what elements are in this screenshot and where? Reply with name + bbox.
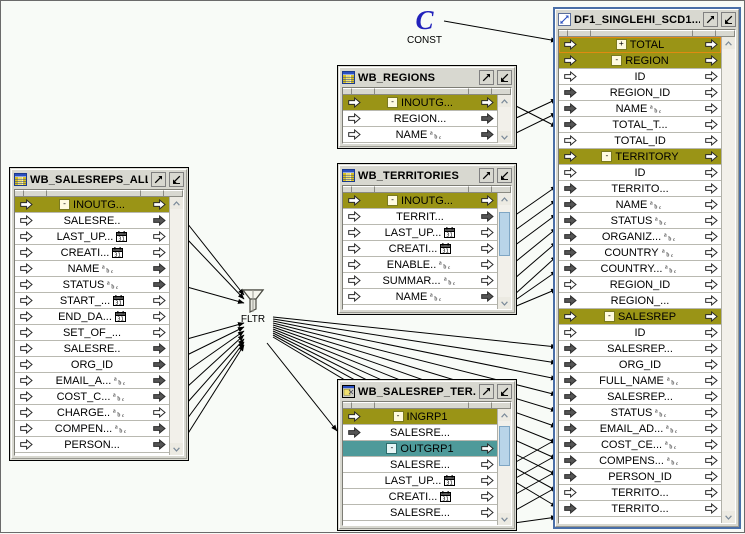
row-input-port[interactable] xyxy=(559,55,581,66)
panel-df1_singlehi_scd1[interactable]: DF1_SINGLEHI_SCD1... xyxy=(553,7,741,529)
row-input-port[interactable] xyxy=(15,215,37,226)
arrow-filled-icon[interactable] xyxy=(564,359,577,370)
row-input-port[interactable] xyxy=(559,103,581,114)
scroll-down-arrow[interactable] xyxy=(498,131,511,143)
row-output-port[interactable] xyxy=(149,247,169,258)
arrow-hollow-icon[interactable] xyxy=(20,423,33,434)
arrow-hollow-icon[interactable] xyxy=(20,247,33,258)
scroll-down-arrow[interactable] xyxy=(498,297,511,309)
scrollbar-thumb[interactable] xyxy=(499,212,510,255)
row-output-port[interactable] xyxy=(477,97,497,108)
row-output-port[interactable] xyxy=(149,263,169,274)
arrow-hollow-icon[interactable] xyxy=(153,327,166,338)
row-input-port[interactable] xyxy=(559,311,581,322)
arrow-hollow-icon[interactable] xyxy=(705,391,718,402)
arrow-filled-icon[interactable] xyxy=(564,215,577,226)
table-row[interactable]: SALESRE... xyxy=(343,505,497,521)
arrow-filled-icon[interactable] xyxy=(564,471,577,482)
arrow-hollow-icon[interactable] xyxy=(481,459,494,470)
table-row[interactable]: -OUTGRP1 xyxy=(343,441,497,457)
column-header-cell[interactable] xyxy=(343,88,352,95)
row-output-port[interactable] xyxy=(477,291,497,302)
scrollbar-thumb[interactable] xyxy=(499,426,510,467)
arrow-filled-icon[interactable] xyxy=(153,375,166,386)
table-row[interactable]: STATUS a b c xyxy=(559,213,721,229)
expand-button[interactable] xyxy=(479,384,494,399)
row-output-port[interactable] xyxy=(477,491,497,502)
row-output-port[interactable] xyxy=(477,211,497,222)
table-row[interactable]: COST_CE... a b c xyxy=(559,437,721,453)
row-input-port[interactable] xyxy=(559,295,581,306)
row-output-port[interactable] xyxy=(149,375,169,386)
panel-titlebar[interactable]: WB_SALESREPS_ALL xyxy=(12,170,186,189)
table-row[interactable]: SALESRE... xyxy=(343,425,497,441)
row-input-port[interactable] xyxy=(559,279,581,290)
row-output-port[interactable] xyxy=(149,215,169,226)
arrow-hollow-icon[interactable] xyxy=(705,71,718,82)
arrow-hollow-icon[interactable] xyxy=(705,247,718,258)
scroll-up-arrow[interactable] xyxy=(722,37,735,49)
row-input-port[interactable] xyxy=(559,391,581,402)
row-output-port[interactable] xyxy=(701,199,721,210)
row-input-port[interactable] xyxy=(343,259,365,270)
arrow-hollow-icon[interactable] xyxy=(481,243,494,254)
table-row[interactable]: CREATI... 31 xyxy=(343,489,497,505)
column-header-cell[interactable] xyxy=(375,186,469,193)
row-input-port[interactable] xyxy=(559,487,581,498)
row-input-port[interactable] xyxy=(559,87,581,98)
arrow-hollow-icon[interactable] xyxy=(20,263,33,274)
arrow-hollow-icon[interactable] xyxy=(348,291,361,302)
arrow-hollow-icon[interactable] xyxy=(20,343,33,354)
row-input-port[interactable] xyxy=(15,263,37,274)
row-output-port[interactable] xyxy=(477,475,497,486)
table-row[interactable]: COUNTRY a b c xyxy=(559,245,721,261)
panel-wb_salesreps_all[interactable]: WB_SALESREPS_ALL xyxy=(9,167,189,461)
row-output-port[interactable] xyxy=(701,263,721,274)
table-row[interactable]: REGION... xyxy=(343,111,497,127)
row-output-port[interactable] xyxy=(701,119,721,130)
arrow-filled-icon[interactable] xyxy=(564,183,577,194)
table-row[interactable]: SALESRE.. xyxy=(15,341,169,357)
panel-grid[interactable]: -INGRP1 SALESRE... -OUTGRP1 SALESRE... xyxy=(342,401,512,526)
column-header-cell[interactable] xyxy=(15,190,24,197)
collapse-button[interactable] xyxy=(169,172,184,187)
arrow-hollow-icon[interactable] xyxy=(20,295,33,306)
table-row[interactable]: COMPEN... a b c xyxy=(15,421,169,437)
collapse-button[interactable] xyxy=(721,12,736,27)
arrow-filled-icon[interactable] xyxy=(481,211,494,222)
row-input-port[interactable] xyxy=(15,439,37,450)
arrow-hollow-icon[interactable] xyxy=(705,455,718,466)
arrow-hollow-icon[interactable] xyxy=(705,439,718,450)
arrow-hollow-icon[interactable] xyxy=(705,135,718,146)
row-input-port[interactable] xyxy=(559,151,581,162)
table-row[interactable]: NAME a b c xyxy=(343,289,497,305)
arrow-filled-icon[interactable] xyxy=(153,279,166,290)
row-expander[interactable]: - xyxy=(601,151,612,162)
row-output-port[interactable] xyxy=(149,199,169,210)
row-input-port[interactable] xyxy=(343,291,365,302)
table-row[interactable]: CREATI... 31 xyxy=(15,245,169,261)
arrow-filled-icon[interactable] xyxy=(481,291,494,302)
row-expander[interactable]: - xyxy=(386,443,397,454)
table-row[interactable]: COST_C... a b c xyxy=(15,389,169,405)
arrow-hollow-icon[interactable] xyxy=(20,359,33,370)
arrow-filled-icon[interactable] xyxy=(153,359,166,370)
filter-node[interactable]: FLTR xyxy=(239,287,267,325)
vertical-scrollbar[interactable] xyxy=(497,409,511,525)
arrow-hollow-icon[interactable] xyxy=(705,263,718,274)
arrow-hollow-icon[interactable] xyxy=(20,439,33,450)
row-input-port[interactable] xyxy=(343,227,365,238)
table-row[interactable]: -INGRP1 xyxy=(343,409,497,425)
expand-button[interactable] xyxy=(479,168,494,183)
scrollbar-track[interactable] xyxy=(722,49,735,511)
arrow-hollow-icon[interactable] xyxy=(564,279,577,290)
row-input-port[interactable] xyxy=(559,71,581,82)
table-row[interactable]: NAME a b c xyxy=(15,261,169,277)
arrow-hollow-icon[interactable] xyxy=(153,247,166,258)
panel-wb_salesrep_ter[interactable]: WB_SALESREP_TER.. xyxy=(337,379,517,531)
table-row[interactable]: SALESREP... xyxy=(559,341,721,357)
arrow-hollow-icon[interactable] xyxy=(564,311,577,322)
arrow-hollow-icon[interactable] xyxy=(705,279,718,290)
column-header-strip[interactable] xyxy=(15,190,183,197)
arrow-hollow-icon[interactable] xyxy=(705,199,718,210)
arrow-hollow-icon[interactable] xyxy=(705,311,718,322)
arrow-filled-icon[interactable] xyxy=(564,263,577,274)
row-input-port[interactable] xyxy=(559,439,581,450)
arrow-hollow-icon[interactable] xyxy=(705,103,718,114)
row-input-port[interactable] xyxy=(15,295,37,306)
table-row[interactable]: CREATI... 31 xyxy=(343,241,497,257)
row-output-port[interactable] xyxy=(149,327,169,338)
arrow-filled-icon[interactable] xyxy=(348,427,361,438)
table-row[interactable]: SALESRE.. xyxy=(15,213,169,229)
row-output-port[interactable] xyxy=(701,39,721,50)
table-row[interactable]: -REGION xyxy=(559,53,721,69)
row-input-port[interactable] xyxy=(343,243,365,254)
table-row[interactable]: -SALESREP xyxy=(559,309,721,325)
column-header-strip[interactable] xyxy=(343,88,511,95)
table-row[interactable]: LAST_UP... 31 xyxy=(343,473,497,489)
row-output-port[interactable] xyxy=(701,455,721,466)
row-expander[interactable]: - xyxy=(387,195,398,206)
row-input-port[interactable] xyxy=(343,195,365,206)
arrow-filled-icon[interactable] xyxy=(564,455,577,466)
row-input-port[interactable] xyxy=(559,359,581,370)
column-header-cell[interactable] xyxy=(568,30,591,37)
arrow-hollow-icon[interactable] xyxy=(705,503,718,514)
row-output-port[interactable] xyxy=(477,113,497,124)
expand-button[interactable] xyxy=(703,12,718,27)
table-row[interactable]: +TOTAL xyxy=(559,37,721,53)
row-input-port[interactable] xyxy=(15,343,37,354)
vertical-scrollbar[interactable] xyxy=(169,197,183,455)
panel-titlebar[interactable]: WB_SALESREP_TER.. xyxy=(340,382,514,401)
row-output-port[interactable] xyxy=(477,507,497,518)
table-row[interactable]: NAME a b c xyxy=(559,197,721,213)
column-header-cell[interactable] xyxy=(375,402,469,409)
arrow-hollow-icon[interactable] xyxy=(481,195,494,206)
column-header-cell[interactable] xyxy=(469,88,492,95)
row-output-port[interactable] xyxy=(701,231,721,242)
arrow-filled-icon[interactable] xyxy=(153,423,166,434)
arrow-hollow-icon[interactable] xyxy=(705,231,718,242)
row-output-port[interactable] xyxy=(701,295,721,306)
arrow-hollow-icon[interactable] xyxy=(481,259,494,270)
row-input-port[interactable] xyxy=(15,311,37,322)
row-input-port[interactable] xyxy=(343,275,365,286)
row-output-port[interactable] xyxy=(701,327,721,338)
row-input-port[interactable] xyxy=(559,263,581,274)
scroll-up-arrow[interactable] xyxy=(498,193,511,205)
row-output-port[interactable] xyxy=(701,487,721,498)
row-output-port[interactable] xyxy=(701,135,721,146)
row-output-port[interactable] xyxy=(701,55,721,66)
row-output-port[interactable] xyxy=(149,295,169,306)
arrow-hollow-icon[interactable] xyxy=(348,275,361,286)
column-header-cell[interactable] xyxy=(469,402,492,409)
column-header-cell[interactable] xyxy=(716,30,735,37)
arrow-hollow-icon[interactable] xyxy=(705,39,718,50)
collapse-button[interactable] xyxy=(497,384,512,399)
table-row[interactable]: PERSON_ID xyxy=(559,469,721,485)
column-header-cell[interactable] xyxy=(47,190,141,197)
table-row[interactable]: LAST_UP... 31 xyxy=(343,225,497,241)
row-output-port[interactable] xyxy=(477,129,497,140)
table-row[interactable]: CHARGE.. a b c xyxy=(15,405,169,421)
row-input-port[interactable] xyxy=(559,215,581,226)
arrow-filled-icon[interactable] xyxy=(564,247,577,258)
arrow-hollow-icon[interactable] xyxy=(481,227,494,238)
row-output-port[interactable] xyxy=(701,87,721,98)
table-row[interactable]: TERRITO... xyxy=(559,485,721,501)
arrow-hollow-icon[interactable] xyxy=(481,275,494,286)
arrow-hollow-icon[interactable] xyxy=(705,359,718,370)
table-row[interactable]: ORGANIZ... a b c xyxy=(559,229,721,245)
arrow-filled-icon[interactable] xyxy=(564,199,577,210)
arrow-filled-icon[interactable] xyxy=(481,129,494,140)
arrow-hollow-icon[interactable] xyxy=(705,87,718,98)
row-input-port[interactable] xyxy=(559,119,581,130)
row-output-port[interactable] xyxy=(477,227,497,238)
row-output-port[interactable] xyxy=(701,503,721,514)
collapse-button[interactable] xyxy=(497,168,512,183)
row-output-port[interactable] xyxy=(149,423,169,434)
arrow-hollow-icon[interactable] xyxy=(481,443,494,454)
row-output-port[interactable] xyxy=(149,391,169,402)
panel-titlebar[interactable]: WB_REGIONS xyxy=(340,68,514,87)
row-output-port[interactable] xyxy=(701,183,721,194)
table-row[interactable]: NAME a b c xyxy=(559,101,721,117)
arrow-filled-icon[interactable] xyxy=(153,439,166,450)
table-row[interactable]: ORG_ID xyxy=(15,357,169,373)
arrow-hollow-icon[interactable] xyxy=(20,311,33,322)
row-output-port[interactable] xyxy=(701,359,721,370)
row-input-port[interactable] xyxy=(559,231,581,242)
row-output-port[interactable] xyxy=(701,311,721,322)
column-header-cell[interactable] xyxy=(24,190,47,197)
expand-button[interactable] xyxy=(151,172,166,187)
arrow-hollow-icon[interactable] xyxy=(153,199,166,210)
arrow-filled-icon[interactable] xyxy=(564,343,577,354)
arrow-hollow-icon[interactable] xyxy=(348,411,361,422)
table-row[interactable]: EMAIL_AD... a b c xyxy=(559,421,721,437)
table-row[interactable]: TOTAL_ID xyxy=(559,133,721,149)
arrow-hollow-icon[interactable] xyxy=(564,151,577,162)
row-expander[interactable]: - xyxy=(59,199,70,210)
row-input-port[interactable] xyxy=(15,391,37,402)
arrow-filled-icon[interactable] xyxy=(564,391,577,402)
collapse-button[interactable] xyxy=(497,70,512,85)
table-row[interactable]: SET_OF_... xyxy=(15,325,169,341)
dataflow-canvas[interactable]: C CONST FLTR WB_SALESREPS_ALL xyxy=(0,0,745,533)
row-output-port[interactable] xyxy=(701,471,721,482)
arrow-hollow-icon[interactable] xyxy=(564,71,577,82)
arrow-hollow-icon[interactable] xyxy=(348,113,361,124)
row-input-port[interactable] xyxy=(15,279,37,290)
arrow-hollow-icon[interactable] xyxy=(705,119,718,130)
row-input-port[interactable] xyxy=(559,247,581,258)
panel-titlebar[interactable]: WB_TERRITORIES xyxy=(340,166,514,185)
row-input-port[interactable] xyxy=(559,39,581,50)
arrow-hollow-icon[interactable] xyxy=(705,423,718,434)
row-input-port[interactable] xyxy=(559,183,581,194)
arrow-filled-icon[interactable] xyxy=(481,113,494,124)
row-output-port[interactable] xyxy=(149,407,169,418)
scrollbar-track[interactable] xyxy=(498,107,511,131)
row-input-port[interactable] xyxy=(559,167,581,178)
arrow-hollow-icon[interactable] xyxy=(705,343,718,354)
arrow-hollow-icon[interactable] xyxy=(20,391,33,402)
arrow-filled-icon[interactable] xyxy=(564,439,577,450)
column-header-strip[interactable] xyxy=(343,402,511,409)
arrow-hollow-icon[interactable] xyxy=(564,327,577,338)
row-input-port[interactable] xyxy=(343,113,365,124)
row-input-port[interactable] xyxy=(15,359,37,370)
arrow-hollow-icon[interactable] xyxy=(153,311,166,322)
row-output-port[interactable] xyxy=(149,279,169,290)
arrow-hollow-icon[interactable] xyxy=(705,375,718,386)
row-output-port[interactable] xyxy=(701,343,721,354)
arrow-hollow-icon[interactable] xyxy=(153,407,166,418)
table-row[interactable]: COMPENS... a b c xyxy=(559,453,721,469)
row-output-port[interactable] xyxy=(149,439,169,450)
arrow-hollow-icon[interactable] xyxy=(705,167,718,178)
arrow-hollow-icon[interactable] xyxy=(705,183,718,194)
panel-grid[interactable]: +TOTAL -REGION ID REGION_ID xyxy=(558,29,736,524)
row-input-port[interactable] xyxy=(559,407,581,418)
row-input-port[interactable] xyxy=(559,455,581,466)
panel-grid[interactable]: -INOUTG... REGION... NAME a b c xyxy=(342,87,512,144)
row-input-port[interactable] xyxy=(559,375,581,386)
table-row[interactable]: ENABLE.. a b c xyxy=(343,257,497,273)
const-node[interactable]: C CONST xyxy=(407,7,442,46)
row-output-port[interactable] xyxy=(477,259,497,270)
table-row[interactable]: COUNTRY... a b c xyxy=(559,261,721,277)
row-input-port[interactable] xyxy=(15,327,37,338)
scroll-down-arrow[interactable] xyxy=(498,513,511,525)
arrow-hollow-icon[interactable] xyxy=(153,295,166,306)
row-input-port[interactable] xyxy=(343,129,365,140)
table-row[interactable]: REGION_ID xyxy=(559,277,721,293)
table-row[interactable]: -INOUTG... xyxy=(15,197,169,213)
scrollbar-track[interactable] xyxy=(170,209,183,443)
arrow-hollow-icon[interactable] xyxy=(348,129,361,140)
arrow-hollow-icon[interactable] xyxy=(20,375,33,386)
arrow-filled-icon[interactable] xyxy=(564,295,577,306)
row-expander[interactable]: - xyxy=(393,411,404,422)
arrow-hollow-icon[interactable] xyxy=(481,507,494,518)
arrow-filled-icon[interactable] xyxy=(564,103,577,114)
arrow-hollow-icon[interactable] xyxy=(705,215,718,226)
row-input-port[interactable] xyxy=(559,471,581,482)
arrow-hollow-icon[interactable] xyxy=(20,199,33,210)
column-header-cell[interactable] xyxy=(559,30,568,37)
column-header-cell[interactable] xyxy=(492,402,511,409)
row-output-port[interactable] xyxy=(477,243,497,254)
row-expander[interactable]: - xyxy=(387,97,398,108)
row-input-port[interactable] xyxy=(343,411,365,422)
arrow-hollow-icon[interactable] xyxy=(564,135,577,146)
arrow-filled-icon[interactable] xyxy=(153,263,166,274)
scrollbar-track[interactable] xyxy=(498,421,511,513)
arrow-filled-icon[interactable] xyxy=(153,343,166,354)
table-row[interactable]: REGION_... xyxy=(559,293,721,309)
row-output-port[interactable] xyxy=(701,167,721,178)
table-row[interactable]: ID xyxy=(559,69,721,85)
table-row[interactable]: ID xyxy=(559,325,721,341)
vertical-scrollbar[interactable] xyxy=(497,193,511,309)
row-expander[interactable]: - xyxy=(611,55,622,66)
row-output-port[interactable] xyxy=(701,439,721,450)
row-input-port[interactable] xyxy=(559,199,581,210)
row-input-port[interactable] xyxy=(559,343,581,354)
arrow-hollow-icon[interactable] xyxy=(705,295,718,306)
row-output-port[interactable] xyxy=(701,391,721,402)
table-row[interactable]: STATUS a b c xyxy=(559,405,721,421)
row-input-port[interactable] xyxy=(559,135,581,146)
arrow-filled-icon[interactable] xyxy=(564,423,577,434)
arrow-hollow-icon[interactable] xyxy=(705,487,718,498)
table-row[interactable]: ORG_ID xyxy=(559,357,721,373)
row-expander[interactable]: - xyxy=(604,311,615,322)
column-header-cell[interactable] xyxy=(693,30,716,37)
row-input-port[interactable] xyxy=(559,423,581,434)
row-output-port[interactable] xyxy=(149,359,169,370)
table-row[interactable]: NAME a b c xyxy=(343,127,497,143)
row-output-port[interactable] xyxy=(701,103,721,114)
row-output-port[interactable] xyxy=(701,375,721,386)
scroll-up-arrow[interactable] xyxy=(498,95,511,107)
row-input-port[interactable] xyxy=(15,247,37,258)
arrow-hollow-icon[interactable] xyxy=(348,243,361,254)
arrow-filled-icon[interactable] xyxy=(564,375,577,386)
column-header-cell[interactable] xyxy=(343,402,352,409)
arrow-hollow-icon[interactable] xyxy=(705,55,718,66)
row-input-port[interactable] xyxy=(343,97,365,108)
row-output-port[interactable] xyxy=(477,195,497,206)
table-row[interactable]: TOTAL_T... xyxy=(559,117,721,133)
row-input-port[interactable] xyxy=(559,327,581,338)
arrow-hollow-icon[interactable] xyxy=(20,279,33,290)
table-row[interactable]: TERRIT... xyxy=(343,209,497,225)
arrow-hollow-icon[interactable] xyxy=(153,231,166,242)
table-row[interactable]: SALESREP... xyxy=(559,389,721,405)
column-header-strip[interactable] xyxy=(343,186,511,193)
